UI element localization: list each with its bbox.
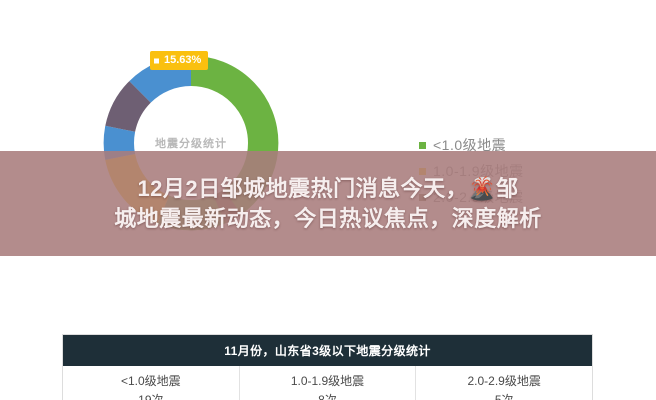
screenshot-root: 地震分级统计 15.63% <1.0级地震 1.0-1.9级地震 2.0-2.9… — [0, 0, 656, 400]
statistics-table: 11月份，山东省3级以下地震分级统计 <1.0级地震 19次 1.0-1.9级地… — [62, 334, 593, 400]
table-cell-count: 19次 — [63, 391, 239, 400]
page-title: 12月2日邹城地震热门消息今天，🌋邹 城地震最新动态，今日热议焦点，深度解析 — [0, 151, 656, 256]
data-label-callout: 15.63% — [150, 51, 208, 70]
table-cell-category: <1.0级地震 — [63, 372, 239, 391]
table-header: 11月份，山东省3级以下地震分级统计 — [63, 335, 592, 366]
callout-marker-icon — [154, 58, 159, 63]
table-cell-category: 2.0-2.9级地震 — [416, 372, 592, 391]
table-cell-count: 5次 — [416, 391, 592, 400]
table-cell-1to19: 1.0-1.9级地震 8次 — [240, 366, 417, 400]
page-title-line-2: 城地震最新动态，今日热议焦点，深度解析 — [114, 204, 542, 233]
table-cell-count: 8次 — [240, 391, 416, 400]
table-cell-category: 1.0-1.9级地震 — [240, 372, 416, 391]
legend-swatch-icon — [419, 142, 426, 149]
page-title-line-1: 12月2日邹城地震热门消息今天，🌋邹 — [137, 174, 518, 203]
callout-value: 15.63% — [164, 54, 201, 66]
legend-item-lt1[interactable]: <1.0级地震 — [419, 138, 639, 152]
table-row: <1.0级地震 19次 1.0-1.9级地震 8次 2.0-2.9级地震 5次 — [63, 366, 592, 400]
table-cell-2to29: 2.0-2.9级地震 5次 — [416, 366, 592, 400]
table-cell-lt1: <1.0级地震 19次 — [63, 366, 240, 400]
